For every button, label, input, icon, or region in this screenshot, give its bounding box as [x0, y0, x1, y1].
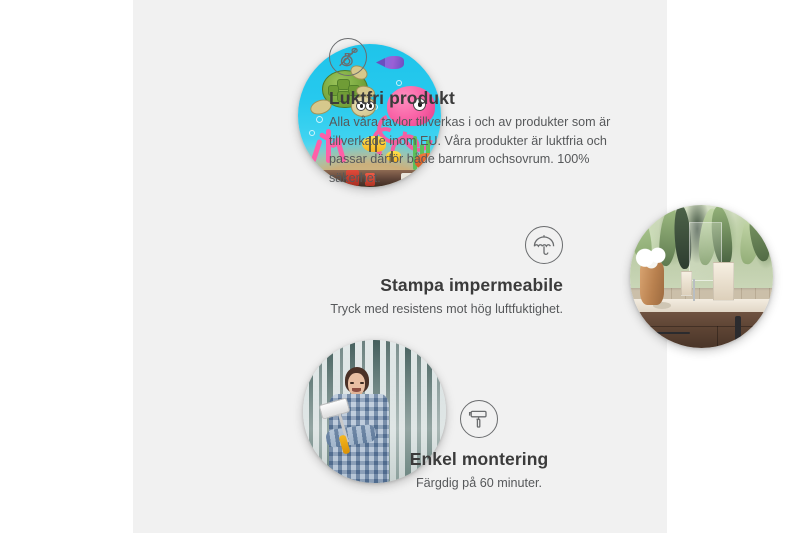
- umbrella-icon: [525, 226, 563, 264]
- infographic-canvas: Luktfri produkt Alla våra tavlor tillver…: [0, 0, 800, 533]
- no-odor-spray-bottle-icon: [329, 38, 367, 76]
- bathroom-vanity-wallpaper-photo: [630, 205, 773, 348]
- feature-title: Stampa impermeabile: [223, 275, 563, 297]
- feature-title: Enkel montering: [329, 449, 629, 471]
- feature-block-easy-install: Enkel montering Färgdig på 60 minuter.: [329, 400, 629, 493]
- feature-block-odorless: Luktfri produkt Alla våra tavlor tillver…: [329, 38, 629, 187]
- feature-title: Luktfri produkt: [329, 88, 629, 110]
- feature-description: Färgdig på 60 minuter.: [329, 474, 629, 493]
- feature-description: Alla våra tavlor tillverkas i och av pro…: [329, 113, 627, 188]
- feature-description: Tryck med resistens mot hög luftfuktighe…: [223, 300, 563, 319]
- feature-block-waterproof: Stampa impermeabile Tryck med resistens …: [223, 226, 563, 319]
- paint-roller-icon: [460, 400, 498, 438]
- content-panel: Luktfri produkt Alla våra tavlor tillver…: [133, 0, 667, 533]
